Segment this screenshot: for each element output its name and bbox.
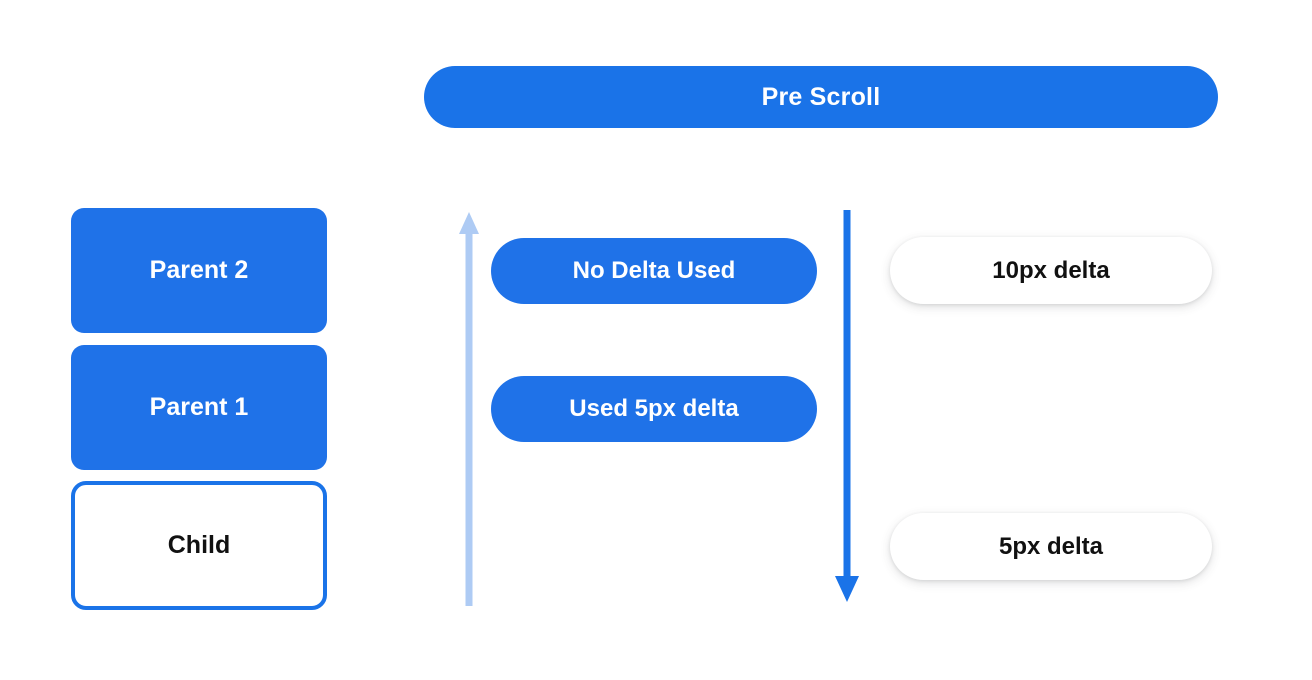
stack-box-parent-1: Parent 1 [71,345,327,470]
pill-no-delta-used: No Delta Used [491,238,817,304]
scroll-down-arrow-icon [834,210,860,604]
stack-box-child: Child [71,481,327,610]
pill-used-5px-delta: Used 5px delta [491,376,817,442]
stack-box-parent-2: Parent 2 [71,208,327,333]
pill-10px-delta: 10px delta [890,237,1212,304]
bubble-up-arrow-icon [458,210,480,606]
pill-5px-delta: 5px delta [890,513,1212,580]
diagram-canvas: Pre Scroll Parent 2 Parent 1 Child No De… [0,0,1312,680]
pre-scroll-header: Pre Scroll [424,66,1218,128]
